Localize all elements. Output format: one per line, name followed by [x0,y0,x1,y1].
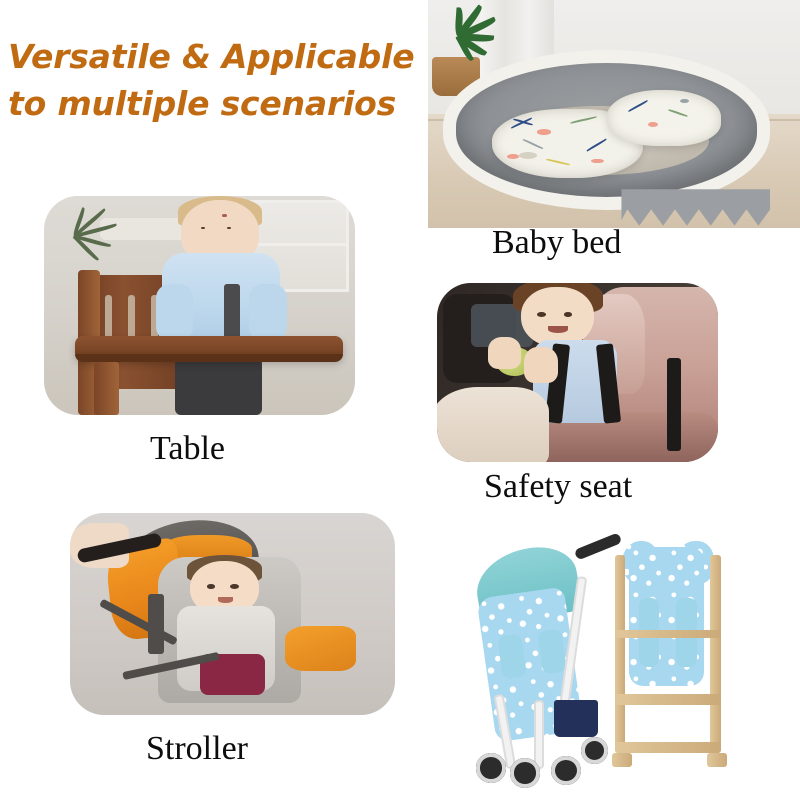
pp-stroller-wheel-4 [581,737,608,764]
tb-child-legs [175,354,262,415]
bb-bassinet [443,50,770,210]
pp-chair-leg-right [710,555,720,753]
panel-baby-bed [428,0,800,228]
pp-stroller-frame-mid [534,700,544,770]
pp-chair-footrest [615,694,720,705]
pp-chair-foot-right [707,753,727,766]
st-liner-orange-foot [285,626,357,670]
page-title: Versatile & Applicable to multiple scena… [8,34,428,128]
caption-baby-bed: Baby bed [492,226,621,260]
caption-table: Table [150,432,225,466]
pp-stroller-wheel-2 [510,758,541,787]
pp-chair-leg-left [615,555,625,753]
panel-product-pair [452,528,792,796]
pp-chair-rail-upper [615,630,720,638]
ss-blanket [437,387,549,462]
bb-plant-leaves [428,0,502,68]
pp-stroller-basket [554,700,598,738]
tb-chair-tray-lip [75,354,342,363]
ss-child-hand-right [524,347,558,383]
panel-stroller [70,513,395,715]
ss-child-head [521,287,594,348]
caption-stroller: Stroller [146,732,248,766]
tb-child-arm-left [156,284,193,341]
tb-chair-leg [94,362,119,415]
ss-seatbelt [667,358,681,451]
panel-table [44,196,355,415]
st-frame-post [148,594,164,655]
caption-safety-seat: Safety seat [484,470,632,504]
bb-head-pillow [607,90,722,146]
pp-chair-foot-left [612,753,632,766]
infographic-canvas: Versatile & Applicable to multiple scena… [0,0,800,800]
bb-cushion-cutout [519,152,537,159]
panel-safety-seat [437,283,718,462]
pp-chair-rail-lower [615,742,720,753]
pp-stroller-wheel-1 [476,753,507,782]
ss-child-hand-left [488,337,522,369]
tb-child-arm-right [249,284,286,341]
